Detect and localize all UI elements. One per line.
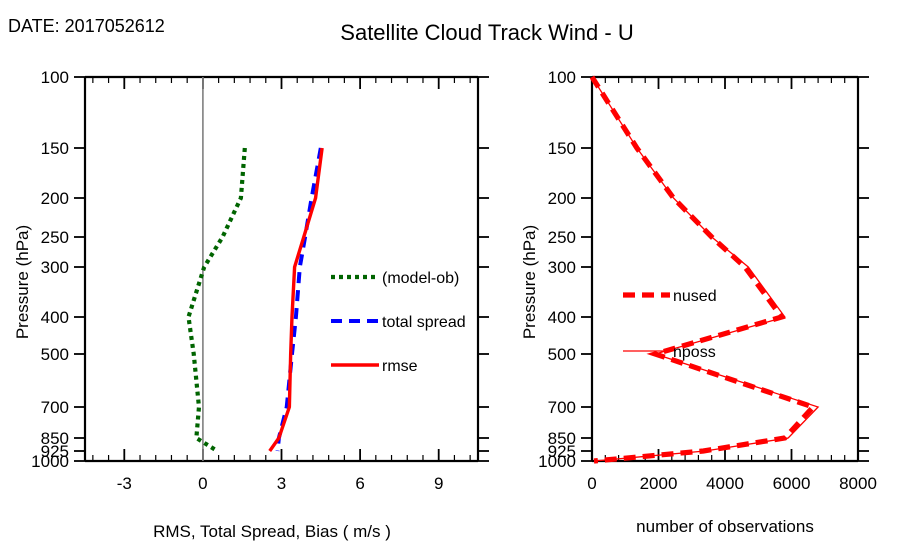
left-panel-y-axis-title: Pressure (hPa): [13, 225, 32, 339]
y-tick-label: 300: [548, 258, 576, 277]
right-panel-y-axis-title: Pressure (hPa): [520, 225, 539, 339]
y-tick-label: 250: [41, 228, 69, 247]
x-tick-label: 2000: [640, 474, 678, 493]
y-tick-label: 150: [41, 139, 69, 158]
x-tick-label: 0: [198, 474, 207, 493]
legend-label--model-ob-: (model-ob): [382, 270, 459, 287]
y-tick-label: 500: [41, 345, 69, 364]
profile-figure: DATE: 2017052612 Satellite Cloud Track W…: [0, 0, 900, 560]
y-tick-label: 700: [548, 398, 576, 417]
y-tick-label: 500: [548, 345, 576, 364]
figure-title: Satellite Cloud Track Wind - U: [340, 20, 633, 45]
y-tick-label: 700: [41, 398, 69, 417]
x-tick-label: 6: [355, 474, 364, 493]
x-tick-label: 6000: [773, 474, 811, 493]
legend-label-total-spread: total spread: [382, 314, 466, 331]
date-label: DATE: 2017052612: [8, 16, 165, 36]
x-tick-label: 3: [277, 474, 286, 493]
y-tick-label: 300: [41, 258, 69, 277]
x-tick-label: 4000: [706, 474, 744, 493]
legend-label-rmse: rmse: [382, 358, 418, 375]
y-tick-label: 150: [548, 139, 576, 158]
y-tick-label: 400: [41, 308, 69, 327]
y-tick-label: 1000: [31, 452, 69, 471]
legend-label-nposs: nposs: [673, 344, 716, 361]
y-tick-label: 100: [548, 68, 576, 87]
x-tick-label: 8000: [839, 474, 877, 493]
y-tick-label: 200: [548, 189, 576, 208]
left-panel-x-axis-title: RMS, Total Spread, Bias ( m/s ): [153, 522, 391, 541]
y-tick-label: 200: [41, 189, 69, 208]
right-panel-x-axis-title: number of observations: [636, 517, 814, 536]
x-tick-label: 0: [587, 474, 596, 493]
y-tick-label: 250: [548, 228, 576, 247]
legend-label-nused: nused: [673, 288, 717, 305]
y-tick-label: 400: [548, 308, 576, 327]
figure-root: DATE: 2017052612 Satellite Cloud Track W…: [0, 0, 900, 560]
x-tick-label: 9: [434, 474, 443, 493]
x-tick-label: -3: [117, 474, 132, 493]
y-tick-label: 1000: [538, 452, 576, 471]
y-tick-label: 100: [41, 68, 69, 87]
